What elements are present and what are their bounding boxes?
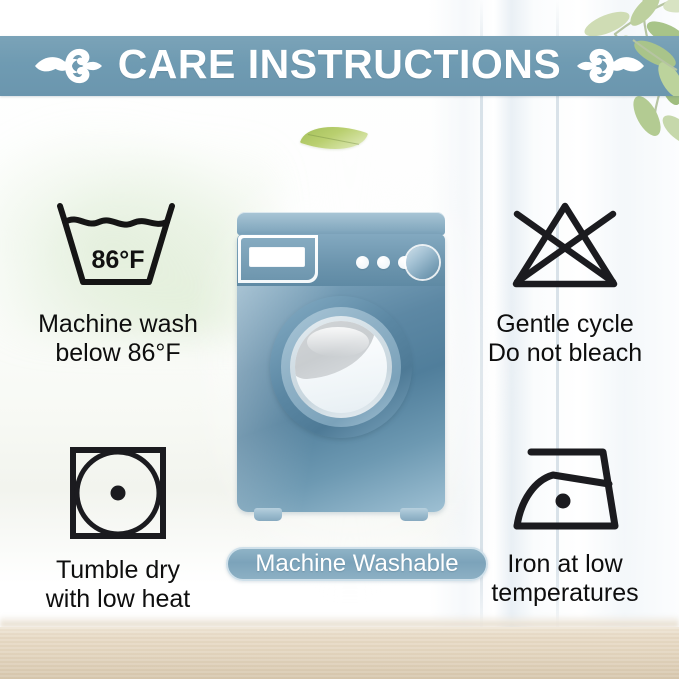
door-glass xyxy=(295,321,387,413)
caption-line-2: temperatures xyxy=(491,579,638,608)
door-gloss-highlight xyxy=(307,327,369,357)
caption-line-2: Do not bleach xyxy=(488,339,642,368)
care-symbol-machine-wash: 86°F Machine wash below 86°F xyxy=(12,196,224,368)
tumble-dry-low-icon xyxy=(66,444,171,542)
care-instructions-graphic: CARE INSTRUCTIONS xyxy=(0,0,679,679)
care-symbol-tumble-dry: Tumble dry with low heat xyxy=(12,444,224,614)
caption-line-1: Gentle cycle xyxy=(488,310,642,339)
care-caption-do-not-bleach: Gentle cycle Do not bleach xyxy=(488,310,642,368)
machine-washable-badge: Machine Washable xyxy=(226,547,488,581)
door-inner-ring xyxy=(290,316,392,418)
badge-label: Machine Washable xyxy=(255,552,458,576)
page-title: CARE INSTRUCTIONS xyxy=(108,44,572,88)
care-caption-tumble-dry: Tumble dry with low heat xyxy=(46,556,191,614)
machine-lid xyxy=(237,212,445,235)
care-symbol-do-not-bleach: Gentle cycle Do not bleach xyxy=(459,196,671,368)
caption-line-1: Machine wash xyxy=(38,310,198,339)
iron-one-dot-icon xyxy=(495,444,635,536)
care-caption-iron-low: Iron at low temperatures xyxy=(491,550,638,608)
fleur-de-lis-icon xyxy=(32,44,104,88)
machine-door xyxy=(270,296,412,438)
wooden-table-surface xyxy=(0,627,679,679)
care-caption-machine-wash: Machine wash below 86°F xyxy=(38,310,198,368)
indicator-dot-2 xyxy=(377,256,390,269)
control-knob xyxy=(406,246,439,279)
triangle-crossed-icon xyxy=(495,196,635,296)
caption-line-1: Tumble dry xyxy=(46,556,191,585)
washing-machine-illustration xyxy=(232,212,450,524)
machine-foot-left xyxy=(254,508,282,521)
caption-line-2: with low heat xyxy=(46,585,191,614)
detergent-drawer-slot xyxy=(250,248,304,266)
door-middle-ring xyxy=(281,307,401,427)
indicator-dot-1 xyxy=(356,256,369,269)
machine-foot-right xyxy=(400,508,428,521)
detergent-drawer xyxy=(238,235,318,283)
care-symbol-iron-low: Iron at low temperatures xyxy=(459,444,671,608)
table-edge xyxy=(0,615,679,627)
header-banner: CARE INSTRUCTIONS xyxy=(0,36,679,96)
fleur-de-lis-icon xyxy=(575,44,647,88)
wash-tub-icon: 86°F xyxy=(48,196,188,296)
caption-line-2: below 86°F xyxy=(38,339,198,368)
wash-temperature-value: 86°F xyxy=(48,246,188,275)
caption-line-1: Iron at low xyxy=(491,550,638,579)
